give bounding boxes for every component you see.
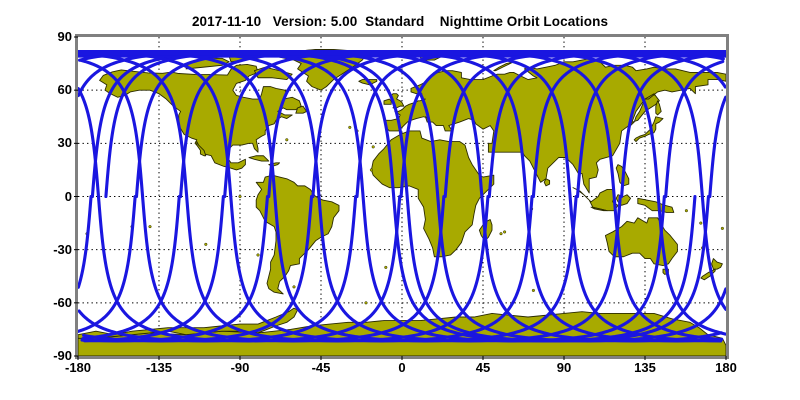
- island: [239, 195, 242, 198]
- x-tick-label: 135: [615, 360, 675, 375]
- x-tick-label: -135: [129, 360, 189, 375]
- orbit-map-figure: 2017-11-10 Version: 5.00 Standard Nightt…: [0, 0, 800, 400]
- world-map-plot: [0, 0, 800, 400]
- y-tick-label: -60: [20, 295, 72, 310]
- y-tick-label: -30: [20, 242, 72, 257]
- x-tick-label: 0: [372, 360, 432, 375]
- x-tick-label: 45: [453, 360, 513, 375]
- island: [532, 289, 535, 292]
- island: [349, 126, 352, 129]
- y-tick-label: 90: [20, 29, 72, 44]
- island: [500, 232, 503, 235]
- x-tick-label: -90: [210, 360, 270, 375]
- island: [721, 227, 724, 230]
- island: [365, 302, 368, 305]
- y-tick-label: 30: [20, 135, 72, 150]
- x-tick-label: 90: [534, 360, 594, 375]
- x-tick-label: -45: [291, 360, 351, 375]
- island: [700, 222, 703, 225]
- island: [149, 225, 152, 228]
- island: [685, 209, 688, 212]
- x-tick-label: 180: [696, 360, 756, 375]
- island: [385, 266, 388, 269]
- landmass: [544, 179, 549, 186]
- island: [293, 286, 296, 289]
- island: [205, 243, 208, 246]
- x-tick-label: -180: [48, 360, 108, 375]
- y-tick-label: 0: [20, 189, 72, 204]
- island: [503, 231, 506, 234]
- island: [370, 169, 373, 172]
- island: [257, 254, 260, 257]
- y-tick-label: 60: [20, 82, 72, 97]
- island: [286, 138, 289, 141]
- island: [372, 146, 375, 149]
